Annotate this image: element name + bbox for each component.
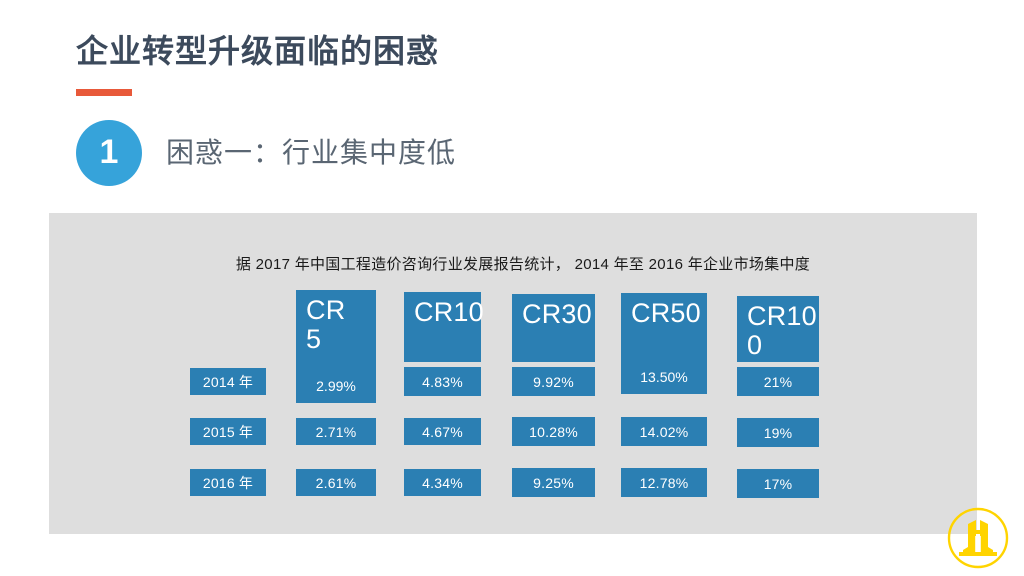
cell-cr5-2014: 2.99% <box>296 378 376 394</box>
cell-cr100-2014: 21% <box>737 367 819 396</box>
row-label-2016: 2016 年 <box>190 469 266 496</box>
title-accent-rule <box>76 89 132 96</box>
cell-cr30-2014: 9.92% <box>512 367 595 396</box>
column-header-cr50-label: CR50 <box>631 299 707 328</box>
column-header-cr30: CR30 <box>512 294 595 362</box>
cell-cr10-2016: 4.34% <box>404 469 481 496</box>
column-header-cr5-merged: CR5 2.99% <box>296 290 376 403</box>
row-label-2015: 2015 年 <box>190 418 266 445</box>
cell-cr50-2014: 13.50% <box>621 369 707 385</box>
column-header-cr5-label: CR5 <box>306 296 376 354</box>
content-panel: 据 2017 年中国工程造价咨询行业发展报告统计， 2014 年至 2016 年… <box>49 213 977 534</box>
cell-cr10-2014: 4.83% <box>404 367 481 396</box>
cell-cr50-2016: 12.78% <box>621 468 707 497</box>
column-header-cr10: CR10 <box>404 292 481 362</box>
cell-cr5-2016: 2.61% <box>296 469 376 496</box>
page-title: 企业转型升级面临的困惑 <box>76 26 439 72</box>
cell-cr30-2016: 9.25% <box>512 468 595 497</box>
concentration-matrix: CR10 CR30 CR100 CR5 2.99% CR50 13.50% 20… <box>49 213 977 534</box>
cell-cr100-2015: 19% <box>737 418 819 447</box>
cell-cr100-2016: 17% <box>737 469 819 498</box>
cell-cr50-2015: 14.02% <box>621 417 707 446</box>
column-header-cr100: CR100 <box>737 296 819 362</box>
step-badge-number: 1 <box>100 135 119 169</box>
step-badge: 1 <box>76 120 142 186</box>
company-logo-icon <box>946 506 1010 570</box>
column-header-cr50-merged: CR50 13.50% <box>621 293 707 394</box>
section-subheading: 困惑一：行业集中度低 <box>166 131 456 171</box>
cell-cr30-2015: 10.28% <box>512 417 595 446</box>
cell-cr10-2015: 4.67% <box>404 418 481 445</box>
row-label-2014: 2014 年 <box>190 368 266 395</box>
cell-cr5-2015: 2.71% <box>296 418 376 445</box>
